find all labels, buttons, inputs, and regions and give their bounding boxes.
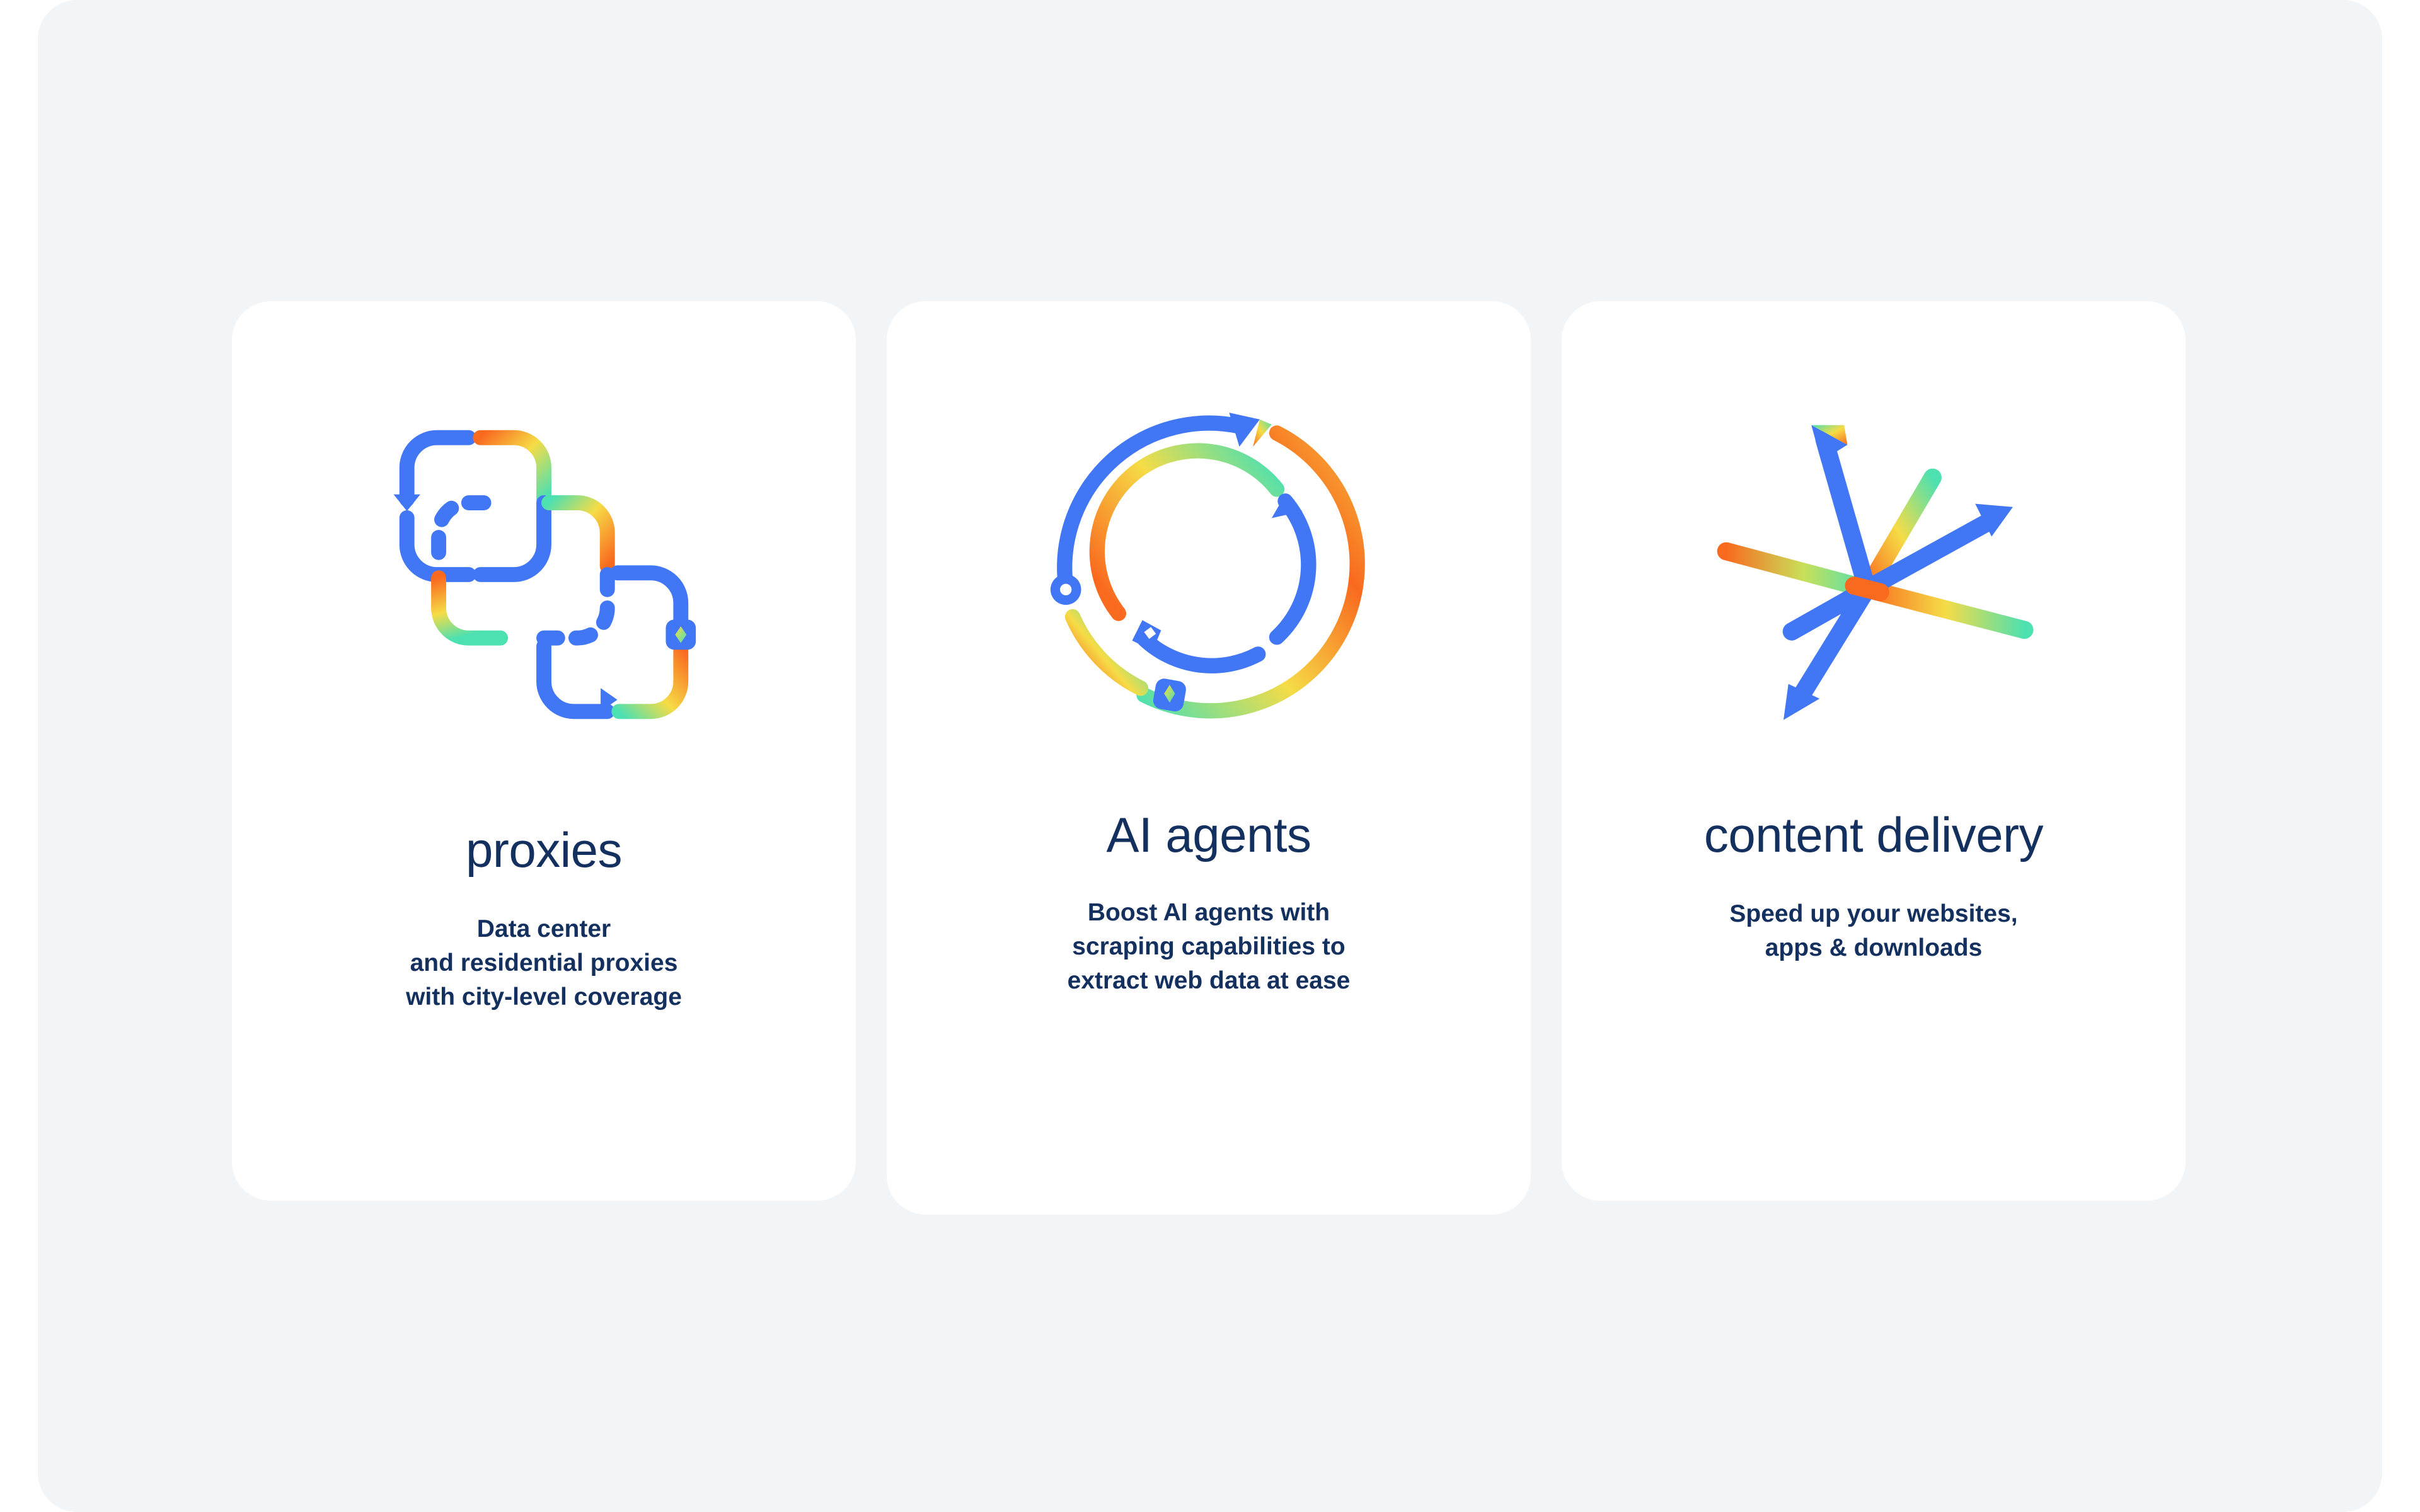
card-description: Boost AI agents with scraping capabiliti… (1068, 896, 1351, 998)
card-title: proxies (466, 825, 622, 874)
feature-card-ai-agents[interactable]: AI agents Boost AI agents with scraping … (887, 301, 1531, 1215)
feature-card-content-delivery[interactable]: content delivery Speed up your websites,… (1562, 301, 2186, 1201)
card-description: Speed up your websites, apps & downloads (1729, 897, 2017, 965)
card-description: Data center and residential proxies with… (406, 912, 682, 1014)
card-title: AI agents (1106, 810, 1311, 859)
overlapping-rounded-squares-proxies-icon (367, 398, 720, 751)
radiating-arrows-content-delivery-icon (1697, 383, 2050, 736)
card-title: content delivery (1704, 810, 2043, 859)
feature-card-proxies[interactable]: proxies Data center and residential prox… (232, 301, 856, 1201)
feature-card-row: proxies Data center and residential prox… (232, 301, 2186, 1215)
page-container: proxies Data center and residential prox… (38, 0, 2382, 1512)
dual-circular-arrows-ai-agents-icon (1032, 389, 1385, 742)
